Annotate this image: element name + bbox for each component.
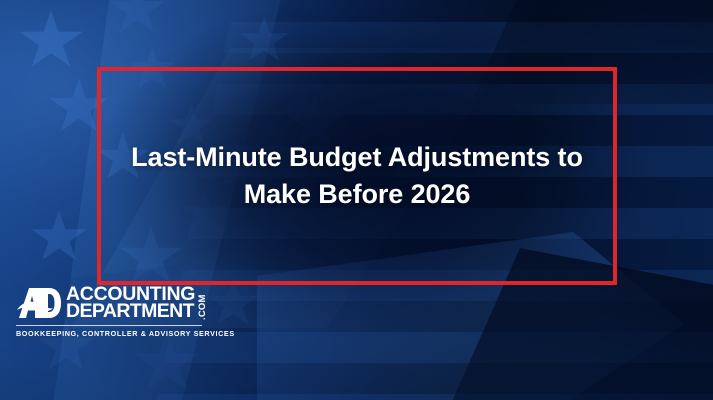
flag-stripe: [164, 332, 713, 363]
star-icon: [6, 150, 76, 216]
star-icon: [132, 330, 202, 396]
star-icon: [206, 278, 260, 329]
brand-logo[interactable]: ACCOUNTING DEPARTMENT .COM BOOKKEEPING, …: [16, 284, 202, 336]
star-icon: [238, 16, 290, 65]
star-icon: [0, 62, 56, 136]
star-icon: [30, 210, 88, 265]
title-line-2: Make Before 2026: [244, 176, 471, 213]
ad-monogram-icon: [16, 285, 62, 321]
logo-text-block: ACCOUNTING DEPARTMENT: [66, 286, 195, 321]
logo-wordmark: ACCOUNTING DEPARTMENT .COM: [66, 286, 208, 321]
star-icon: [18, 10, 84, 72]
page-title: Last-Minute Budget Adjustments to Make B…: [97, 67, 617, 285]
promo-banner: Last-Minute Budget Adjustments to Make B…: [0, 0, 713, 400]
logo-name-line-2: DEPARTMENT: [66, 303, 195, 321]
flag-stripe: [152, 394, 713, 400]
logo-row: ACCOUNTING DEPARTMENT .COM: [16, 284, 202, 322]
star-icon: [108, 0, 166, 37]
flag-stripe: [224, 22, 713, 53]
logo-divider: [16, 325, 202, 326]
title-line-1: Last-Minute Budget Adjustments to: [131, 139, 583, 176]
logo-tagline: BOOKKEEPING, CONTROLLER & ADVISORY SERVI…: [16, 329, 202, 338]
logo-tld: .COM: [197, 286, 208, 320]
